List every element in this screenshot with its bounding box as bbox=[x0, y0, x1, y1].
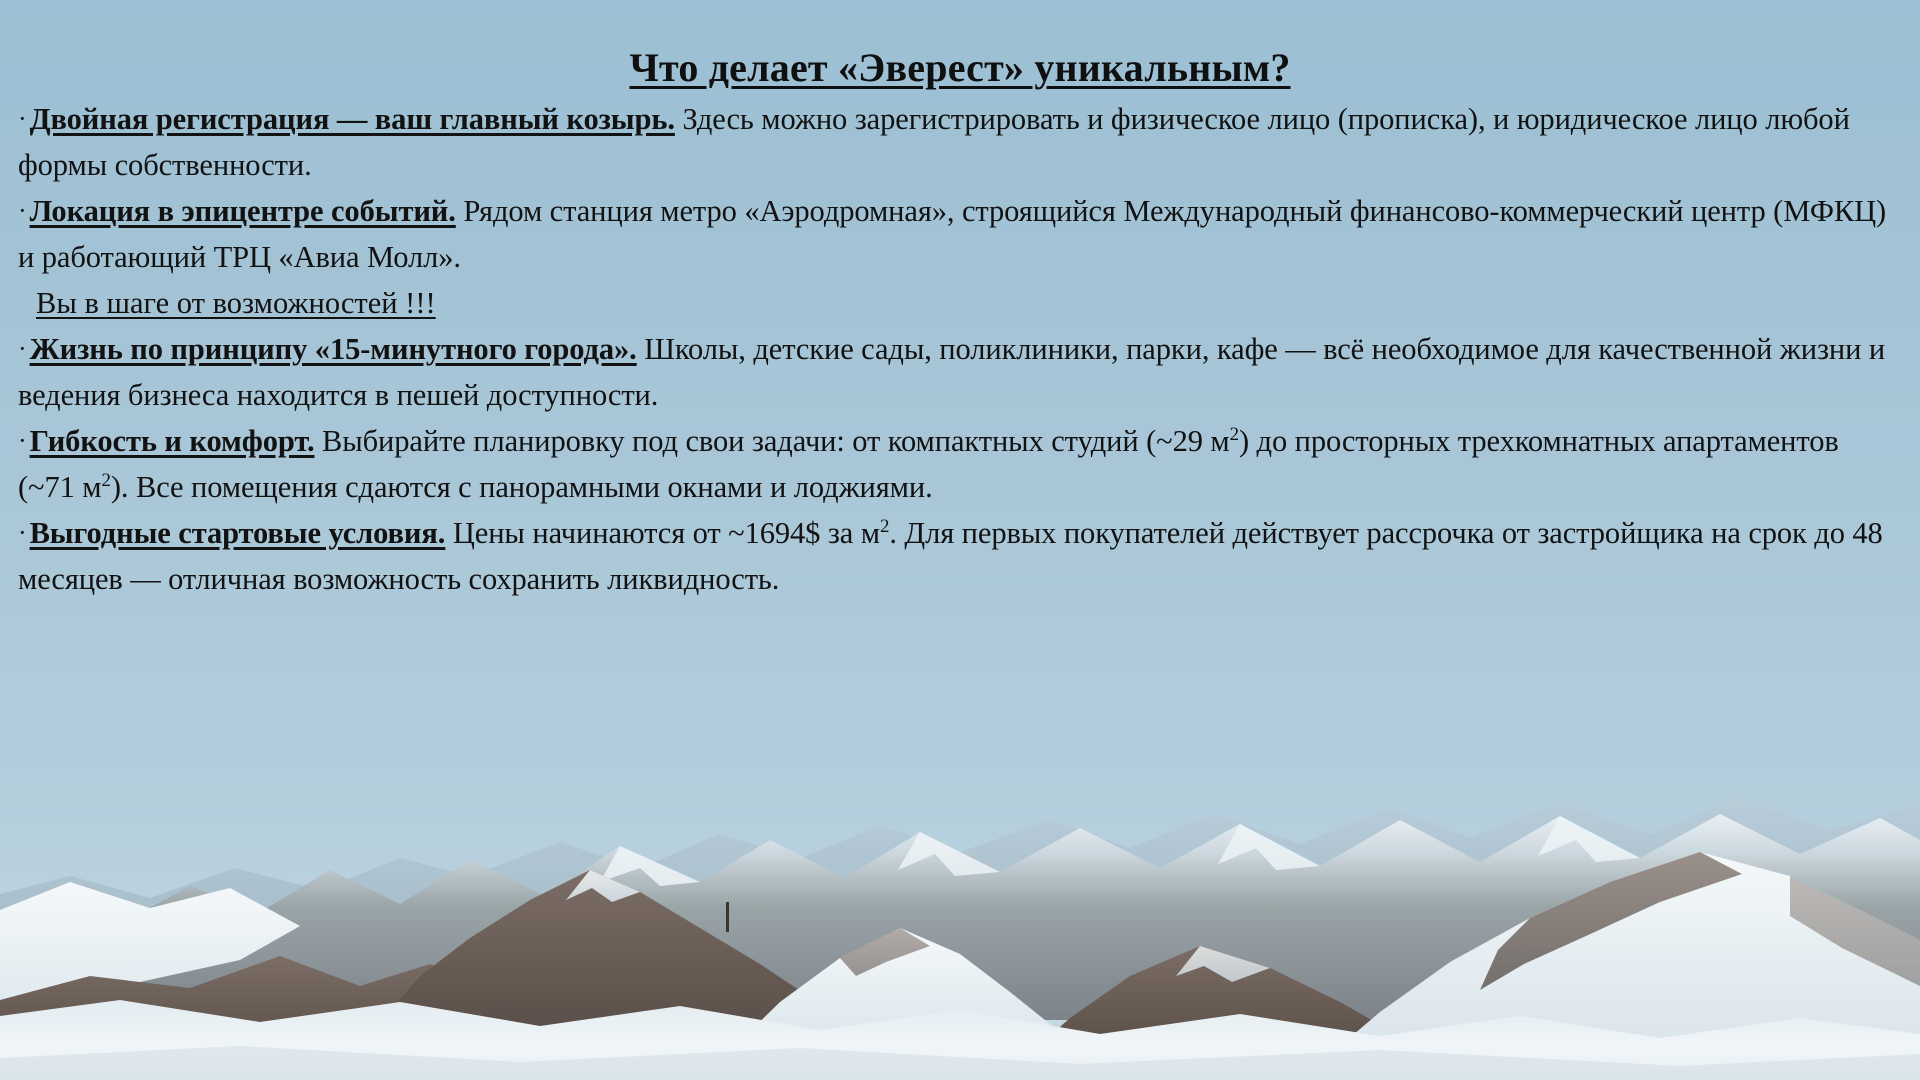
bullet-marker-icon: · bbox=[18, 334, 27, 363]
bullet-lead-fifteen-minute-city: Жизнь по принципу «15-минутного города». bbox=[30, 332, 637, 366]
bullet-marker-icon: · bbox=[18, 196, 27, 225]
bullet-lead-location: Локация в эпицентре событий. bbox=[30, 194, 456, 228]
page-title: Что делает «Эверест» уникальным? bbox=[0, 44, 1920, 91]
bullet-dual-registration: ·Двойная регистрация — ваш главный козыр… bbox=[18, 97, 1898, 188]
bullet-body-flexibility-part1: Выбирайте планировку под свои задачи: от… bbox=[314, 424, 1229, 458]
bullet-marker-icon: · bbox=[18, 426, 27, 455]
bullet-marker-icon: · bbox=[18, 518, 27, 547]
slide-content: Что делает «Эверест» уникальным? ·Двойна… bbox=[0, 0, 1920, 604]
bullet-fifteen-minute-city: ·Жизнь по принципу «15-минутного города»… bbox=[18, 327, 1898, 418]
bullet-lead-dual-registration: Двойная регистрация — ваш главный козырь… bbox=[30, 102, 675, 136]
bullet-lead-flexibility-comfort: Гибкость и комфорт. bbox=[30, 424, 315, 458]
square-meter-superscript: 2 bbox=[880, 516, 889, 537]
square-meter-superscript: 2 bbox=[101, 470, 110, 491]
presentation-slide: Что делает «Эверест» уникальным? ·Двойна… bbox=[0, 0, 1920, 1080]
bullet-lead-starting-conditions: Выгодные стартовые условия. bbox=[30, 516, 446, 550]
square-meter-superscript: 2 bbox=[1230, 424, 1239, 445]
bullet-body-starting-part1: Цены начинаются от ~1694$ за м bbox=[445, 516, 880, 550]
foreground-snowfield bbox=[0, 930, 1920, 1080]
bullet-location: ·Локация в эпицентре событий. Рядом стан… bbox=[18, 189, 1898, 280]
bullet-marker-icon: · bbox=[18, 104, 27, 133]
bullet-body-flexibility-part3: ). Все помещения сдаются с панорамными о… bbox=[111, 470, 933, 504]
bullet-starting-conditions: ·Выгодные стартовые условия. Цены начина… bbox=[18, 511, 1898, 602]
bullet-list: ·Двойная регистрация — ваш главный козыр… bbox=[0, 97, 1920, 603]
call-to-action-text: Вы в шаге от возможностей !!! bbox=[36, 286, 436, 320]
bullet-flexibility-comfort: ·Гибкость и комфорт. Выбирайте планировк… bbox=[18, 419, 1898, 510]
call-to-action-line: Вы в шаге от возможностей !!! bbox=[18, 281, 1898, 327]
